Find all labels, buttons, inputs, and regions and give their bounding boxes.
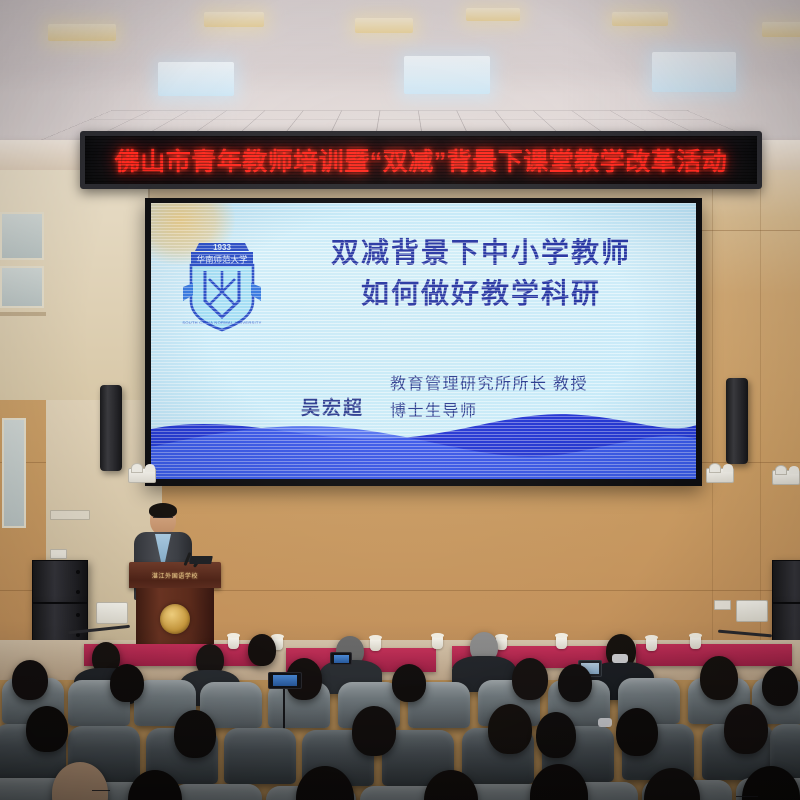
subwoofer-box xyxy=(32,560,88,603)
smartphone[interactable] xyxy=(330,652,352,665)
face-mask xyxy=(612,654,628,663)
slide-title: 双减背景下中小学教师 如何做好教学科研 xyxy=(269,233,693,316)
auditorium-scene: 佛山市青年教师培训暨“双减”背景下课堂教学改革活动 1933 华南师范大学 xyxy=(0,0,800,800)
presenter-hair xyxy=(149,503,177,518)
presenter-glasses-icon xyxy=(153,517,173,521)
wall-control-box-right[interactable] xyxy=(736,600,768,622)
wall-seam xyxy=(760,170,761,650)
audience-head xyxy=(110,664,144,702)
smartphone[interactable] xyxy=(268,672,302,689)
led-banner: 佛山市青年教师培训暨“双减”背景下课堂教学改革活动 xyxy=(80,131,762,189)
slide-wave-decoration xyxy=(151,395,696,479)
led-banner-text: 佛山市青年教师培训暨“双减”背景下课堂教学改革活动 xyxy=(115,142,728,178)
auditorium-seat xyxy=(224,728,296,784)
column-speaker-right xyxy=(726,378,748,464)
emergency-light-right xyxy=(706,468,734,483)
audience-head xyxy=(762,666,798,706)
smartphone-on-tripod[interactable] xyxy=(268,672,302,689)
auditorium-seat xyxy=(172,784,262,800)
door-frame[interactable] xyxy=(2,418,26,528)
svg-text:华南师范大学: 华南师范大学 xyxy=(196,255,248,265)
wall-outlet[interactable] xyxy=(714,600,731,610)
audience-head xyxy=(700,656,738,700)
window-frame xyxy=(0,266,44,308)
university-crest-icon: 1933 华南师范大学 SOUTH CHINA NORMAL UNIVERSIT… xyxy=(179,231,265,335)
svg-text:1933: 1933 xyxy=(213,243,231,252)
smartphone-screen xyxy=(334,655,349,663)
subwoofer-box xyxy=(772,560,800,603)
emergency-light-left xyxy=(772,470,800,485)
audience-area xyxy=(0,620,800,800)
audience-head xyxy=(616,708,658,756)
wall-outlet[interactable] xyxy=(50,549,67,559)
audience-head xyxy=(352,706,396,756)
svg-text:SOUTH CHINA NORMAL UNIVERSITY: SOUTH CHINA NORMAL UNIVERSITY xyxy=(182,320,261,325)
wall-seam xyxy=(0,312,46,316)
audience-head xyxy=(392,664,426,702)
podium-top: 湛江外国语学校 xyxy=(129,562,221,588)
audience-head xyxy=(26,706,68,752)
slide-title-line-2: 如何做好教学科研 xyxy=(269,274,693,315)
ceiling-shading xyxy=(0,0,800,152)
emergency-light-center-left xyxy=(128,468,156,483)
audience-head xyxy=(12,660,48,700)
projection-screen-bezel: 1933 华南师范大学 SOUTH CHINA NORMAL UNIVERSIT… xyxy=(145,198,702,486)
audience-head xyxy=(174,710,216,758)
smartphone-on-tripod-secondary[interactable] xyxy=(330,652,352,665)
wall-seam xyxy=(712,170,713,650)
audience-head xyxy=(558,664,592,702)
slide-title-line-1: 双减背景下中小学教师 xyxy=(269,233,693,274)
audience-head xyxy=(512,658,548,700)
eyeglasses-icon xyxy=(92,790,110,794)
audience-head xyxy=(248,634,276,666)
audience-head xyxy=(724,704,768,754)
laptop[interactable] xyxy=(189,556,213,564)
eyeglasses-icon xyxy=(736,796,758,800)
projection-screen: 1933 华南师范大学 SOUTH CHINA NORMAL UNIVERSIT… xyxy=(151,203,696,479)
window-frame xyxy=(0,212,44,260)
podium-label: 湛江外国语学校 xyxy=(152,571,198,580)
audience-head xyxy=(488,704,532,754)
column-speaker-left xyxy=(100,385,122,471)
wall-plate xyxy=(50,510,90,520)
face-mask xyxy=(598,718,612,727)
smartphone-screen xyxy=(273,675,297,686)
audience-head xyxy=(536,712,576,758)
ceiling xyxy=(0,0,800,152)
